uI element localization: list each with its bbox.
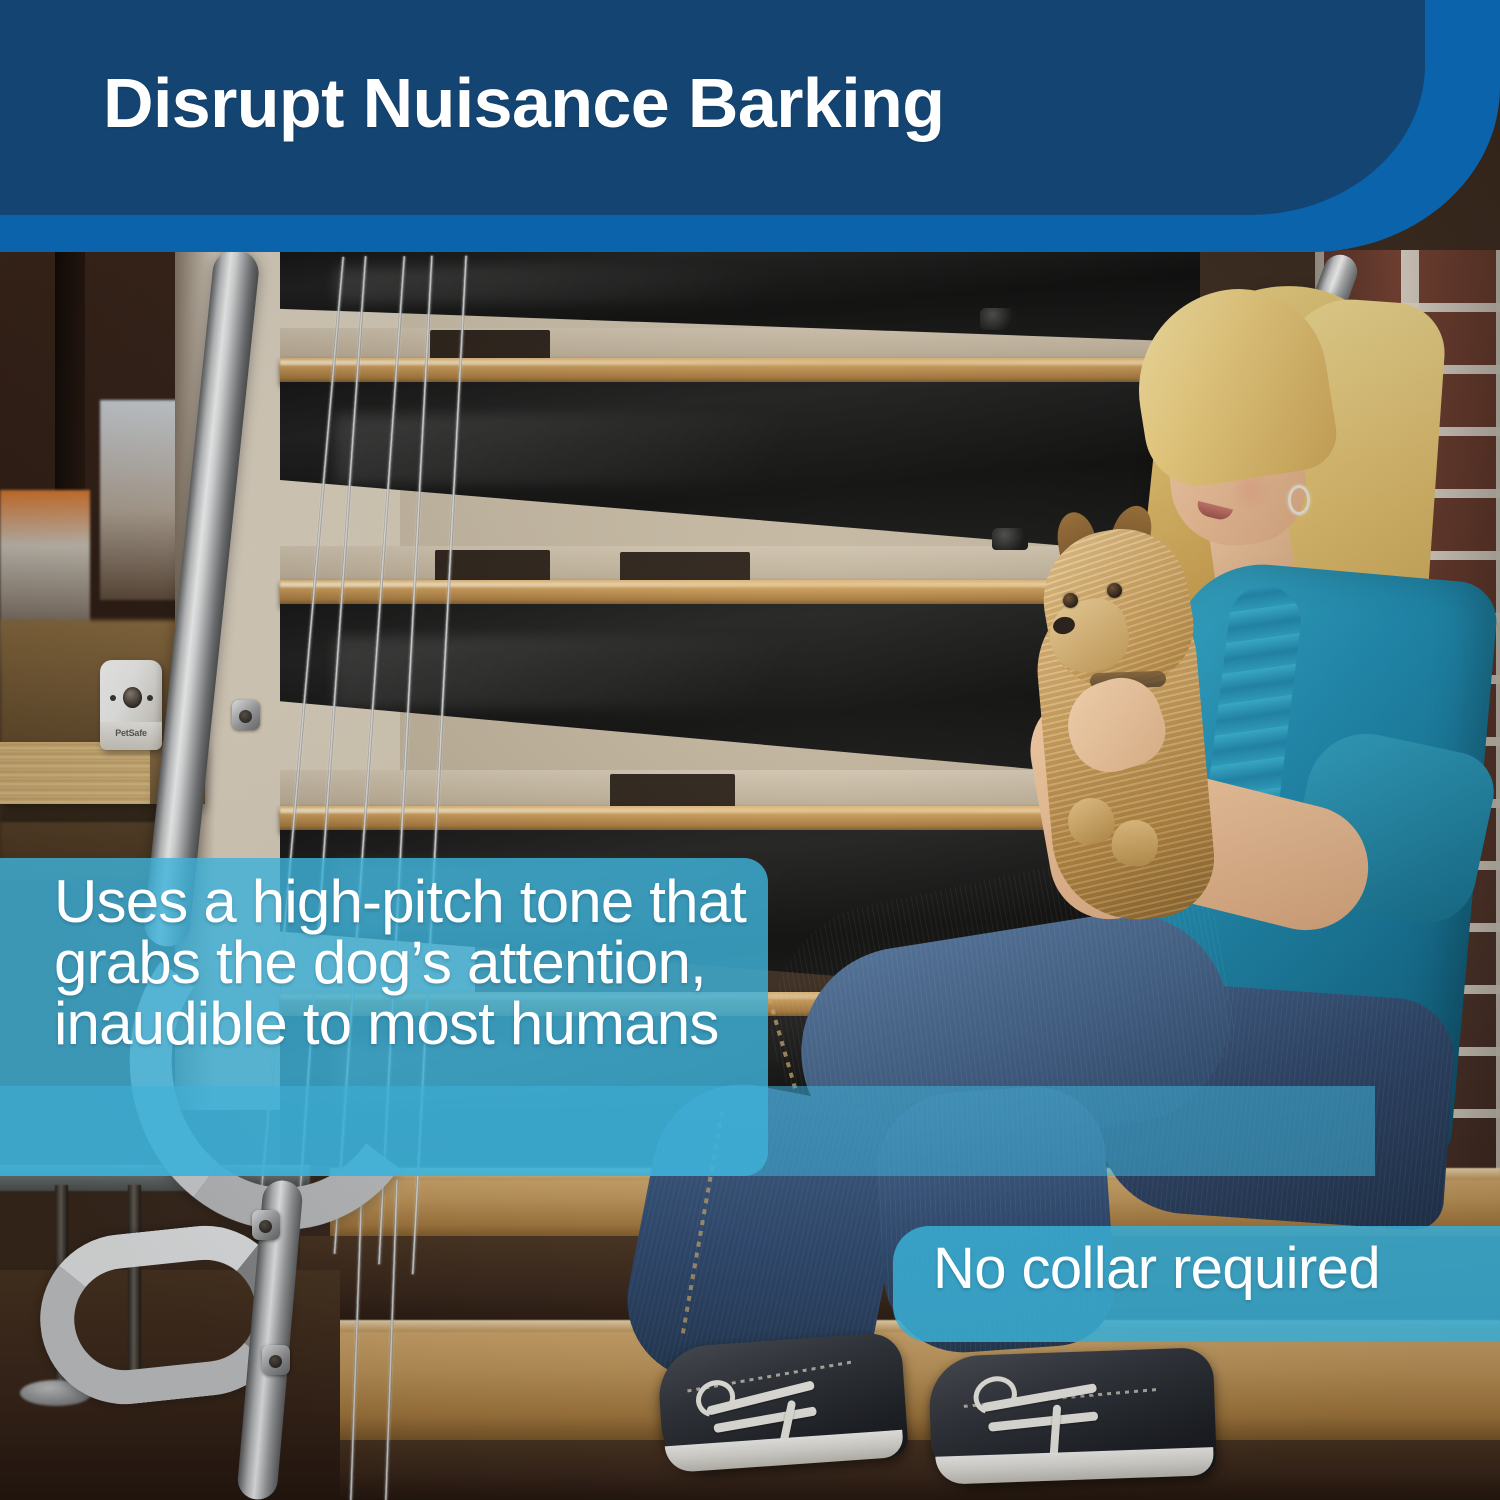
- handrail-fitting: [262, 1345, 290, 1375]
- sneaker-left: [656, 1332, 909, 1474]
- device-microphone-dot: [110, 695, 116, 701]
- shoe-lace-loop: [968, 1370, 1022, 1421]
- stair-bracket: [992, 528, 1028, 550]
- stair-nosing: [280, 358, 1200, 384]
- marketing-poster: PetSafe: [0, 0, 1500, 1500]
- petsafe-logo: PetSafe: [100, 728, 162, 738]
- dog-eye-right: [1107, 583, 1122, 598]
- woman-hoop-earring: [1288, 485, 1310, 515]
- stair-bracket: [980, 308, 1016, 330]
- sneaker-right: [928, 1347, 1217, 1485]
- device-led-dot: [147, 695, 153, 701]
- handrail-fitting: [232, 700, 260, 730]
- background-wall-art-2: [100, 400, 180, 600]
- petsafe-bark-control-device: PetSafe: [100, 660, 162, 750]
- handrail-fitting: [252, 1210, 280, 1240]
- secondary-caption-text: No collar required: [933, 1240, 1500, 1298]
- ultrasonic-speaker-icon: [123, 687, 142, 708]
- nosing-highlight: [280, 360, 1200, 365]
- page-title: Disrupt Nuisance Barking: [103, 66, 944, 142]
- dog-eye-left: [1063, 593, 1078, 608]
- shoe-lace: [988, 1411, 1098, 1431]
- primary-caption-text: Uses a high-pitch tone that grabs the do…: [54, 872, 784, 1055]
